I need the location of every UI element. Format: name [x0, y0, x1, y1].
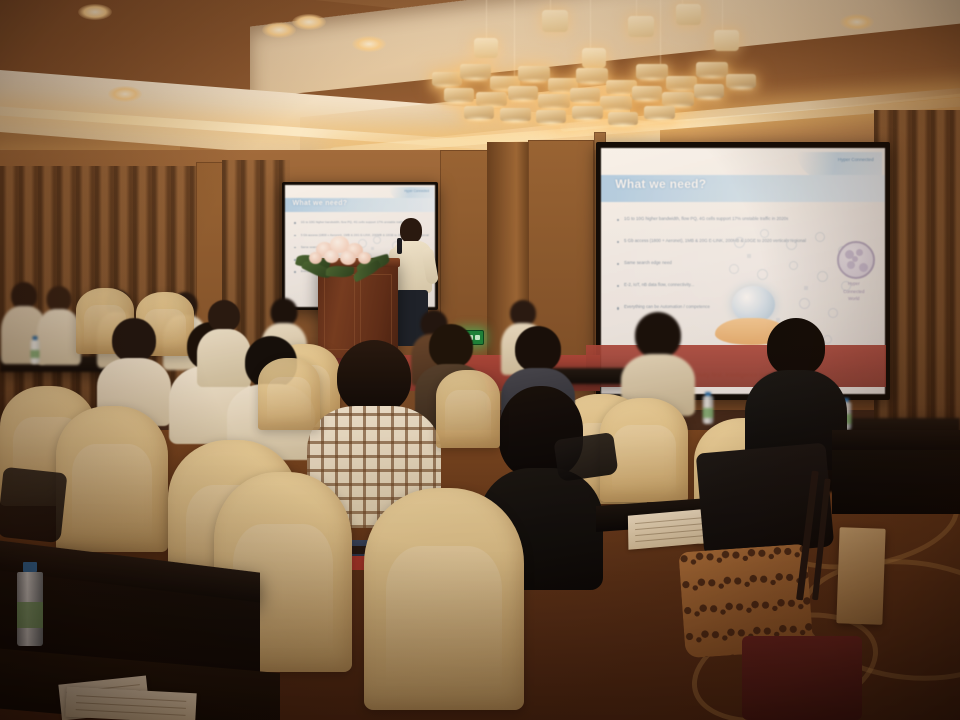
flower-arrangement: [296, 232, 392, 278]
water-bottle: [702, 392, 714, 424]
presenter-head: [400, 218, 422, 243]
chair: [258, 358, 320, 430]
slide-title: What we need?: [615, 177, 706, 191]
chair: [436, 370, 500, 448]
water-bottle: [30, 336, 40, 364]
ceiling-downlight: [262, 22, 296, 38]
slide-bullet: E-2, IoT, nB data flow, connectivity...: [624, 282, 694, 287]
pendant-light: [676, 4, 701, 25]
pendant-light: [474, 38, 498, 58]
slide-swoosh-label: Hyper Connected: [838, 157, 874, 162]
slide-bullet: Same search edge need: [624, 260, 672, 265]
ceiling-downlight: [352, 36, 386, 52]
slide-bullet: Everything can be Automation / competenc…: [624, 304, 710, 309]
pendant-chandelier: [430, 0, 770, 127]
hyper-connected-world-logo: Hyper Connected World: [837, 241, 871, 302]
pendant-light: [628, 16, 654, 37]
slide-title: What we need?: [293, 200, 348, 207]
rolling-luggage: [742, 636, 862, 720]
logo-line-1: Hyper: [837, 281, 871, 287]
microphone: [397, 238, 402, 254]
globe-logo-icon: [837, 241, 875, 279]
ceiling-downlight: [108, 86, 142, 102]
conference-room-photo: Hyper Connected What we need? 1G to 10G …: [0, 0, 960, 720]
pendant-light: [542, 10, 568, 32]
logo-line-2: Connected: [837, 289, 871, 295]
attendee: [620, 312, 696, 412]
water-bottle: [16, 562, 44, 646]
ceiling-downlight: [78, 4, 112, 20]
pendant-light: [582, 48, 606, 68]
table-skirt: [832, 450, 960, 514]
logo-line-3: World: [837, 296, 871, 302]
chair: [364, 488, 524, 710]
ceiling-downlight: [840, 14, 874, 30]
podium-panel: [324, 274, 355, 350]
bag: [0, 467, 67, 543]
slide-swoosh-label: Hyper Connected: [404, 189, 429, 193]
podium-panel: [360, 274, 392, 350]
bag: [553, 432, 618, 482]
ceiling-downlight: [292, 14, 326, 30]
slide-bullet: 1G to 10G higher bandwidth, flow PQ, 4G …: [624, 216, 788, 221]
handout-paper: [65, 687, 196, 720]
paper-bag: [836, 527, 885, 625]
chair: [56, 406, 168, 552]
pendant-light: [714, 30, 739, 51]
